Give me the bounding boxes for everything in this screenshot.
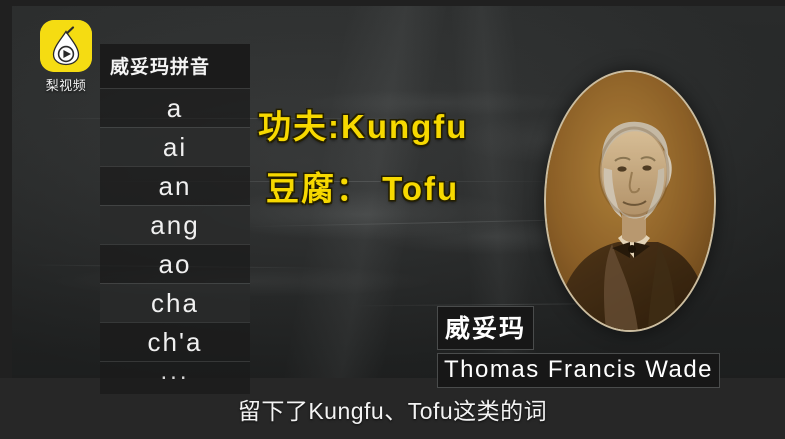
channel-watermark: 梨视频 <box>30 20 102 94</box>
pinyin-list: a ai an ang ao cha ch'a ... <box>100 88 250 394</box>
frame-edge-left <box>0 0 12 378</box>
frame-edge-top <box>0 0 785 6</box>
list-item-ellipsis: ... <box>100 361 250 390</box>
list-item: cha <box>100 283 250 322</box>
pinyin-panel: 威妥玛拼音 a ai an ang ao cha ch'a ... <box>100 44 250 394</box>
pinyin-panel-title: 威妥玛拼音 <box>100 44 250 88</box>
pear-play-logo-icon <box>40 20 92 72</box>
channel-name-label: 梨视频 <box>30 75 102 94</box>
list-item: ang <box>100 205 250 244</box>
example-word-kungfu: 功夫:Kungfu <box>258 100 468 148</box>
example-word-tofu: 豆腐： Tofu <box>258 162 468 210</box>
video-frame: 梨视频 威妥玛拼音 a ai an ang ao cha ch'a ... 功夫… <box>0 0 785 439</box>
list-item: a <box>100 88 250 127</box>
list-item: ao <box>100 244 250 283</box>
thomas-francis-wade-portrait <box>544 70 716 332</box>
list-item: ch'a <box>100 322 250 361</box>
portrait-artwork <box>546 72 714 330</box>
list-item: an <box>100 166 250 205</box>
subtitle-text: 留下了Kungfu、Tofu这类的词 <box>238 392 547 426</box>
example-words-group: 功夫:Kungfu 豆腐： Tofu <box>258 100 468 224</box>
name-chinese: 威妥玛 <box>437 306 534 350</box>
list-item: ai <box>100 127 250 166</box>
name-card: 威妥玛 Thomas Francis Wade <box>437 306 785 388</box>
name-english: Thomas Francis Wade <box>437 353 720 388</box>
